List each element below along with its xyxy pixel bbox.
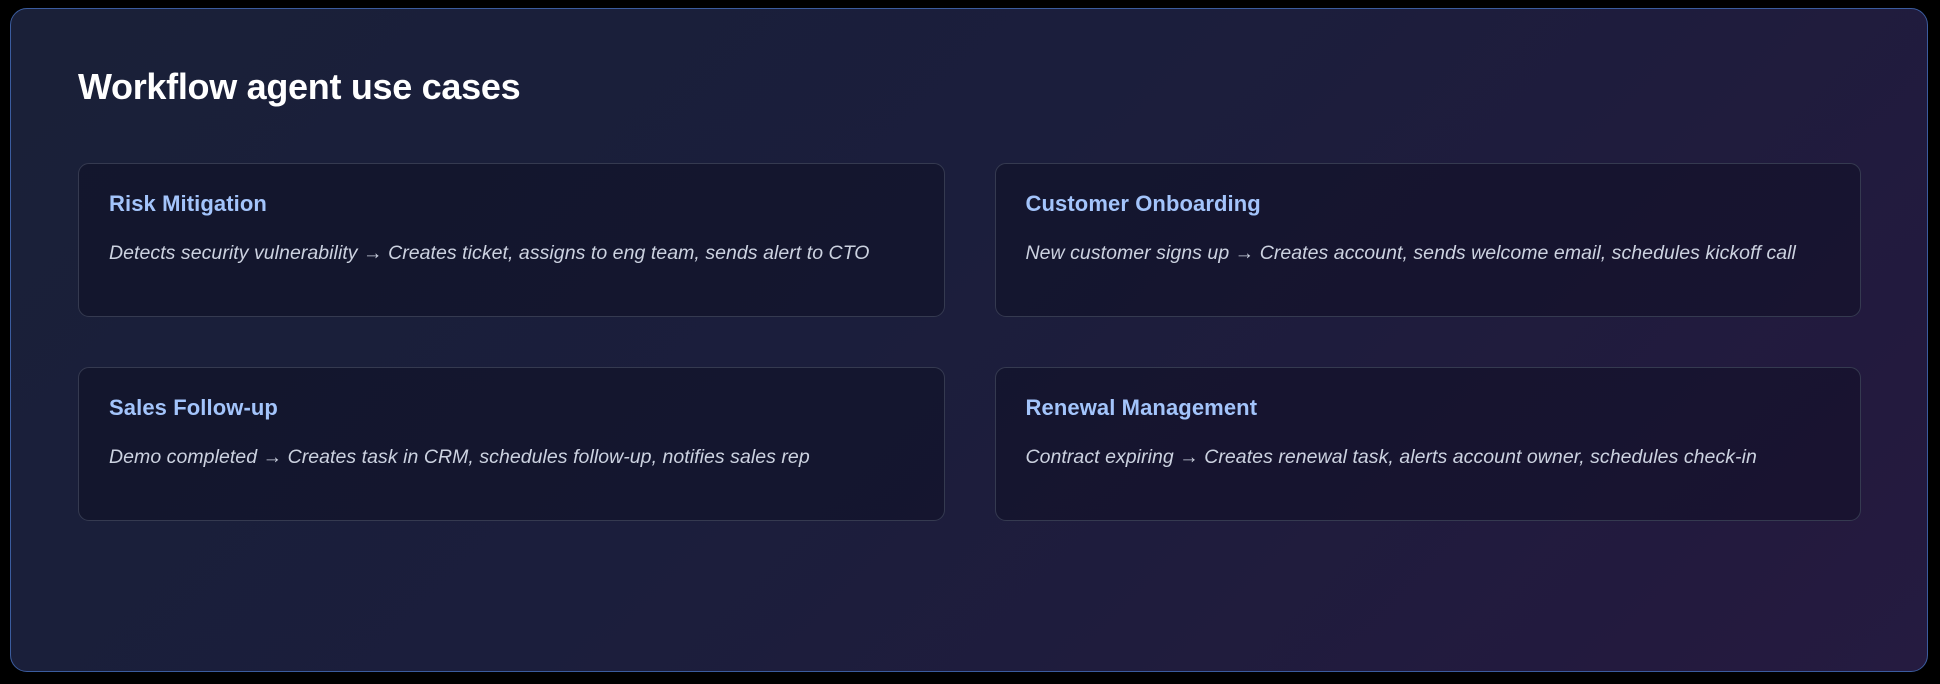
card-description: Demo completed → Creates task in CRM, sc… xyxy=(109,444,913,471)
page-title: Workflow agent use cases xyxy=(78,67,1861,107)
use-case-card-customer-onboarding[interactable]: Customer Onboarding New customer signs u… xyxy=(995,163,1862,317)
use-case-card-renewal-management[interactable]: Renewal Management Contract expiring → C… xyxy=(995,367,1862,521)
card-title: Renewal Management xyxy=(1026,395,1830,420)
use-case-card-risk-mitigation[interactable]: Risk Mitigation Detects security vulnera… xyxy=(78,163,945,317)
card-description: Detects security vulnerability → Creates… xyxy=(109,240,913,267)
use-cases-panel: Workflow agent use cases Risk Mitigation… xyxy=(10,8,1928,672)
card-title: Risk Mitigation xyxy=(109,191,913,216)
use-case-card-sales-follow-up[interactable]: Sales Follow-up Demo completed → Creates… xyxy=(78,367,945,521)
card-title: Customer Onboarding xyxy=(1026,191,1830,216)
panel-content: Workflow agent use cases Risk Mitigation… xyxy=(11,9,1927,671)
use-case-card-grid: Risk Mitigation Detects security vulnera… xyxy=(78,163,1861,521)
card-description: Contract expiring → Creates renewal task… xyxy=(1026,444,1830,471)
card-description: New customer signs up → Creates account,… xyxy=(1026,240,1830,267)
card-title: Sales Follow-up xyxy=(109,395,913,420)
